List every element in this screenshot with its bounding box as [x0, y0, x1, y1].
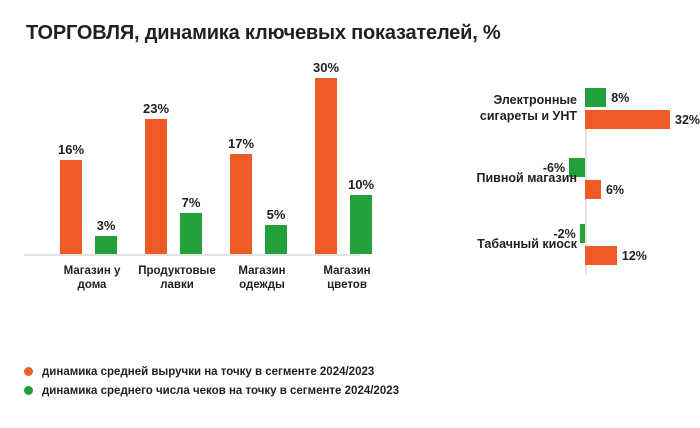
bar-revenue[interactable]: 6%: [585, 180, 601, 199]
vertical-bar-group: 30%10%Магазинцветов: [305, 72, 389, 292]
bar-receipts[interactable]: 8%: [585, 88, 606, 107]
bar-revenue[interactable]: 30%: [315, 78, 337, 254]
bar-value-label: 23%: [143, 101, 169, 116]
legend-label: динамика среднего числа чеков на точку в…: [42, 385, 399, 397]
vertical-bar-group: 17%5%Магазинодежды: [220, 72, 304, 292]
bar-receipts[interactable]: 10%: [350, 195, 372, 254]
bar-revenue[interactable]: 17%: [230, 154, 252, 254]
bar-receipts[interactable]: -2%: [580, 224, 585, 243]
bar-value-label: 6%: [606, 183, 624, 197]
category-label: Электронныесигареты и УНТ: [417, 92, 577, 124]
vertical-bar-group: 23%7%Продуктовыелавки: [135, 72, 219, 292]
legend-dot-green: [24, 386, 33, 395]
category-label-line: Табачный киоск: [417, 236, 577, 252]
vertical-bar-pair: 23%7%: [135, 72, 219, 254]
category-label: Магазинцветов: [297, 264, 397, 292]
bar-receipts[interactable]: 5%: [265, 225, 287, 254]
page-title: ТОРГОВЛЯ, динамика ключевых показателей,…: [26, 22, 501, 45]
bar-value-label: 17%: [228, 136, 254, 151]
vertical-bar-pair: 17%5%: [220, 72, 304, 254]
vertical-bar-chart: 16%3%Магазин удома23%7%Продуктовыелавки1…: [22, 72, 362, 292]
bar-revenue[interactable]: 23%: [145, 119, 167, 254]
bar-value-label: 7%: [182, 195, 201, 210]
horizontal-bar-chart: 8%32%Электронныесигареты и УНТ-6%6%Пивно…: [415, 88, 695, 274]
category-label-line: Магазин: [297, 264, 397, 278]
vertical-bar-pair: 16%3%: [50, 72, 134, 254]
bar-receipts[interactable]: 3%: [95, 236, 117, 254]
bar-revenue[interactable]: 32%: [585, 110, 670, 129]
bar-revenue[interactable]: 12%: [585, 246, 617, 265]
bar-value-label: 12%: [622, 249, 647, 263]
bar-value-label: 32%: [675, 113, 700, 127]
category-label-line: Электронные: [417, 92, 577, 108]
vertical-bar-pair: 30%10%: [305, 72, 389, 254]
category-label: Пивной магазин: [417, 170, 577, 186]
bar-value-label: 16%: [58, 142, 84, 157]
category-label-line: цветов: [297, 278, 397, 292]
legend-label: динамика средней выручки на точку в сегм…: [42, 366, 374, 378]
category-label-line: сигареты и УНТ: [417, 108, 577, 124]
bar-value-label: 10%: [348, 177, 374, 192]
bar-value-label: 30%: [313, 60, 339, 75]
chart-legend: динамика средней выручки на точку в сегм…: [24, 362, 399, 400]
category-label-line: Пивной магазин: [417, 170, 577, 186]
category-label: Табачный киоск: [417, 236, 577, 252]
bar-revenue[interactable]: 16%: [60, 160, 82, 254]
horizontal-bar-group: -6%6%Пивной магазин: [415, 158, 695, 200]
legend-item: динамика средней выручки на точку в сегм…: [24, 362, 399, 381]
bar-value-label: 3%: [97, 218, 116, 233]
bar-receipts[interactable]: 7%: [180, 213, 202, 254]
bar-value-label: 8%: [611, 91, 629, 105]
vertical-bar-group: 16%3%Магазин удома: [50, 72, 134, 292]
horizontal-bar-group: -2%12%Табачный киоск: [415, 224, 695, 266]
horizontal-bar-group: 8%32%Электронныесигареты и УНТ: [415, 88, 695, 130]
legend-item: динамика среднего числа чеков на точку в…: [24, 381, 399, 400]
bar-value-label: 5%: [267, 207, 286, 222]
legend-dot-orange: [24, 367, 33, 376]
